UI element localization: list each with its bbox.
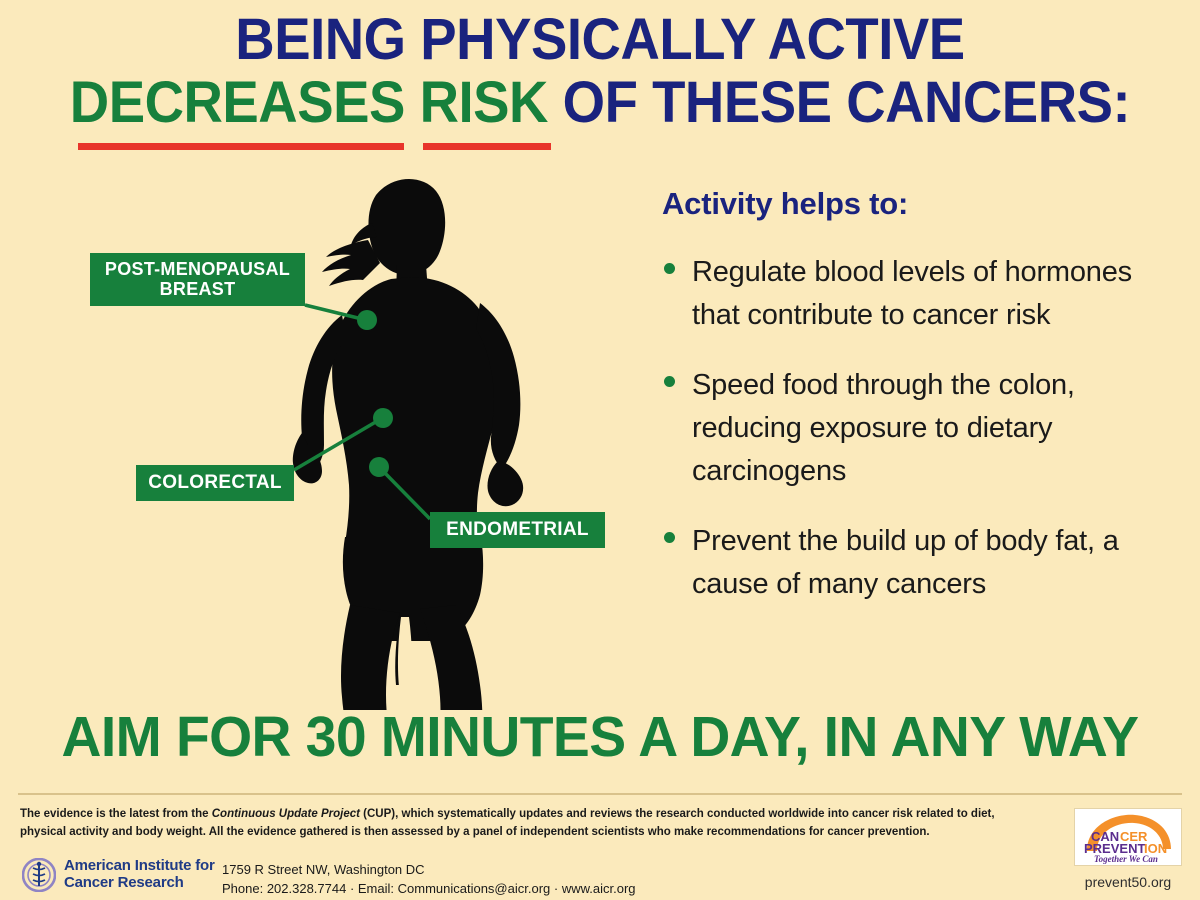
headline-line-2: DECREASES RISK OF THESE CANCERS:: [36, 73, 1164, 132]
poster-canvas: BEING PHYSICALLY ACTIVE DECREASES RISK O…: [0, 0, 1200, 900]
aicr-wordmark: American Institute for Cancer Research: [64, 858, 215, 892]
cp-tagline: Together We Can: [1094, 854, 1158, 864]
callout-colorectal: COLORECTAL: [136, 465, 294, 501]
headline-of-these-cancers: OF THESE CANCERS:: [563, 70, 1131, 135]
activity-bullet-2-text: Speed food through the colon, reducing e…: [692, 369, 1075, 486]
headline-risk: RISK: [420, 70, 548, 135]
activity-bullet-1-text: Regulate blood levels of hormones that c…: [692, 256, 1132, 331]
underline-risk: [423, 143, 551, 150]
headline-line-1: BEING PHYSICALLY ACTIVE: [36, 10, 1164, 69]
aicr-line-1: American Institute for: [64, 858, 215, 875]
running-woman-silhouette-icon: [250, 165, 570, 710]
activity-bullet-3: Prevent the build up of body fat, a caus…: [662, 520, 1162, 605]
activity-heading: Activity helps to:: [662, 186, 1162, 222]
activity-bullet-1: Regulate blood levels of hormones that c…: [662, 251, 1162, 336]
bullet-dot-icon: [664, 263, 675, 274]
contact-block: 1759 R Street NW, Washington DC Phone: 2…: [222, 861, 636, 899]
footer-divider: [18, 793, 1182, 795]
cancer-prevention-logo: CAN CER PREVENT ION Together We Can: [1074, 808, 1182, 866]
prevent50-url: prevent50.org: [1074, 874, 1182, 890]
callout-breast-line-2: BREAST: [104, 279, 291, 299]
contact-address: 1759 R Street NW, Washington DC: [222, 861, 636, 880]
headline-decreases: DECREASES: [70, 70, 405, 135]
activity-bullet-2: Speed food through the colon, reducing e…: [662, 364, 1162, 492]
bullet-dot-icon: [664, 376, 675, 387]
aicr-logo: American Institute for Cancer Research: [22, 858, 215, 892]
footer-fine-print: The evidence is the latest from the Cont…: [20, 806, 1030, 842]
underline-decreases: [78, 143, 404, 150]
aicr-line-2: Cancer Research: [64, 875, 215, 892]
callout-breast-line-1: POST-MENOPAUSAL: [104, 259, 291, 279]
contact-phone-email: Phone: 202.328.7744 · Email: Communicati…: [222, 880, 636, 899]
callout-post-menopausal-breast: POST-MENOPAUSAL BREAST: [90, 253, 305, 306]
activity-panel: Activity helps to: Regulate blood levels…: [662, 186, 1162, 633]
fine-print-pre: The evidence is the latest from the: [20, 808, 212, 820]
aicr-caduceus-icon: [22, 858, 56, 892]
callout-endometrial: ENDOMETRIAL: [430, 512, 605, 548]
activity-bullet-3-text: Prevent the build up of body fat, a caus…: [692, 525, 1119, 600]
fine-print-italic: Continuous Update Project: [212, 808, 360, 820]
page-title: BEING PHYSICALLY ACTIVE DECREASES RISK O…: [0, 10, 1200, 132]
bullet-dot-icon: [664, 532, 675, 543]
aim-banner: AIM FOR 30 MINUTES A DAY, IN ANY WAY: [18, 704, 1182, 770]
